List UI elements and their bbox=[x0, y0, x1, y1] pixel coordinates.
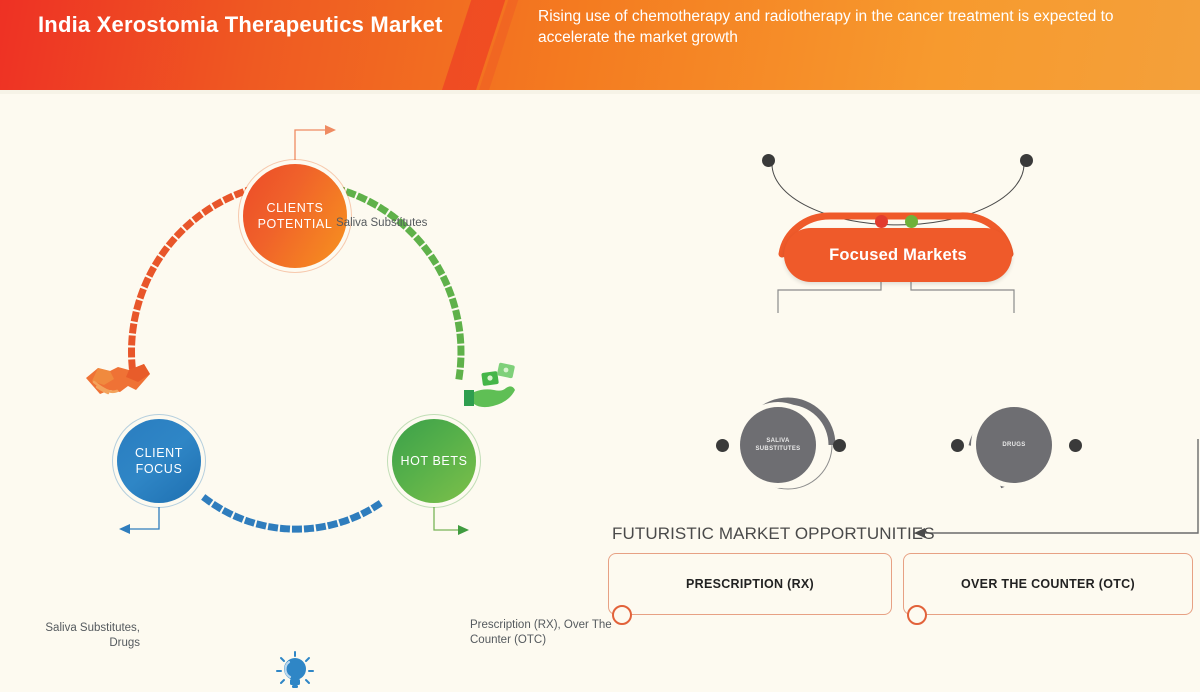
drugs-dot-right bbox=[1069, 439, 1082, 452]
pill-dot-left bbox=[762, 154, 775, 167]
tree-node-line1: SALIVA bbox=[766, 438, 789, 444]
tree-node-line2: SUBSTITUTES bbox=[756, 446, 801, 452]
lightbulb-icon bbox=[275, 650, 315, 692]
tree-node-drugs[interactable]: DRUGS bbox=[976, 407, 1052, 483]
opportunity-box-prescription-rx[interactable]: PRESCRIPTION (RX) bbox=[608, 553, 892, 615]
focused-markets-group: Focused Markets bbox=[758, 212, 1038, 298]
ring-prescription bbox=[612, 605, 632, 625]
callout-client-focus: Saliva Substitutes, Drugs bbox=[20, 621, 140, 651]
futuristic-arrow-line bbox=[925, 439, 1198, 533]
focused-markets-pill[interactable]: Focused Markets bbox=[784, 228, 1012, 282]
futuristic-opportunities-title: FUTURISTIC MARKET OPPORTUNITIES bbox=[612, 524, 935, 544]
tree-node-line1: DRUGS bbox=[1002, 441, 1025, 449]
opportunity-box-over-the-counter-otc[interactable]: OVER THE COUNTER (OTC) bbox=[903, 553, 1193, 615]
saliva-dot-right bbox=[833, 439, 846, 452]
focused-markets-label: Focused Markets bbox=[829, 246, 967, 265]
tree-connectors bbox=[0, 94, 1200, 600]
green-dot bbox=[905, 215, 918, 228]
infographic-stage: CLIENTS POTENTIAL CLIENT FOCUS HOT BETS … bbox=[0, 94, 1200, 600]
tree-node-saliva-substitutes[interactable]: SALIVASUBSTITUTES bbox=[740, 407, 816, 483]
pill-dot-right bbox=[1020, 154, 1033, 167]
saliva-dot-left bbox=[716, 439, 729, 452]
header-banner: India Xerostomia Therapeutics Market Ris… bbox=[0, 0, 1200, 90]
header-subtitle: Rising use of chemotherapy and radiother… bbox=[538, 6, 1138, 48]
page-title: India Xerostomia Therapeutics Market bbox=[38, 10, 468, 39]
opportunity-label: OVER THE COUNTER (OTC) bbox=[961, 577, 1135, 591]
ring-otc bbox=[907, 605, 927, 625]
red-dot bbox=[875, 215, 888, 228]
drugs-dot-left bbox=[951, 439, 964, 452]
opportunity-label: PRESCRIPTION (RX) bbox=[686, 577, 814, 591]
